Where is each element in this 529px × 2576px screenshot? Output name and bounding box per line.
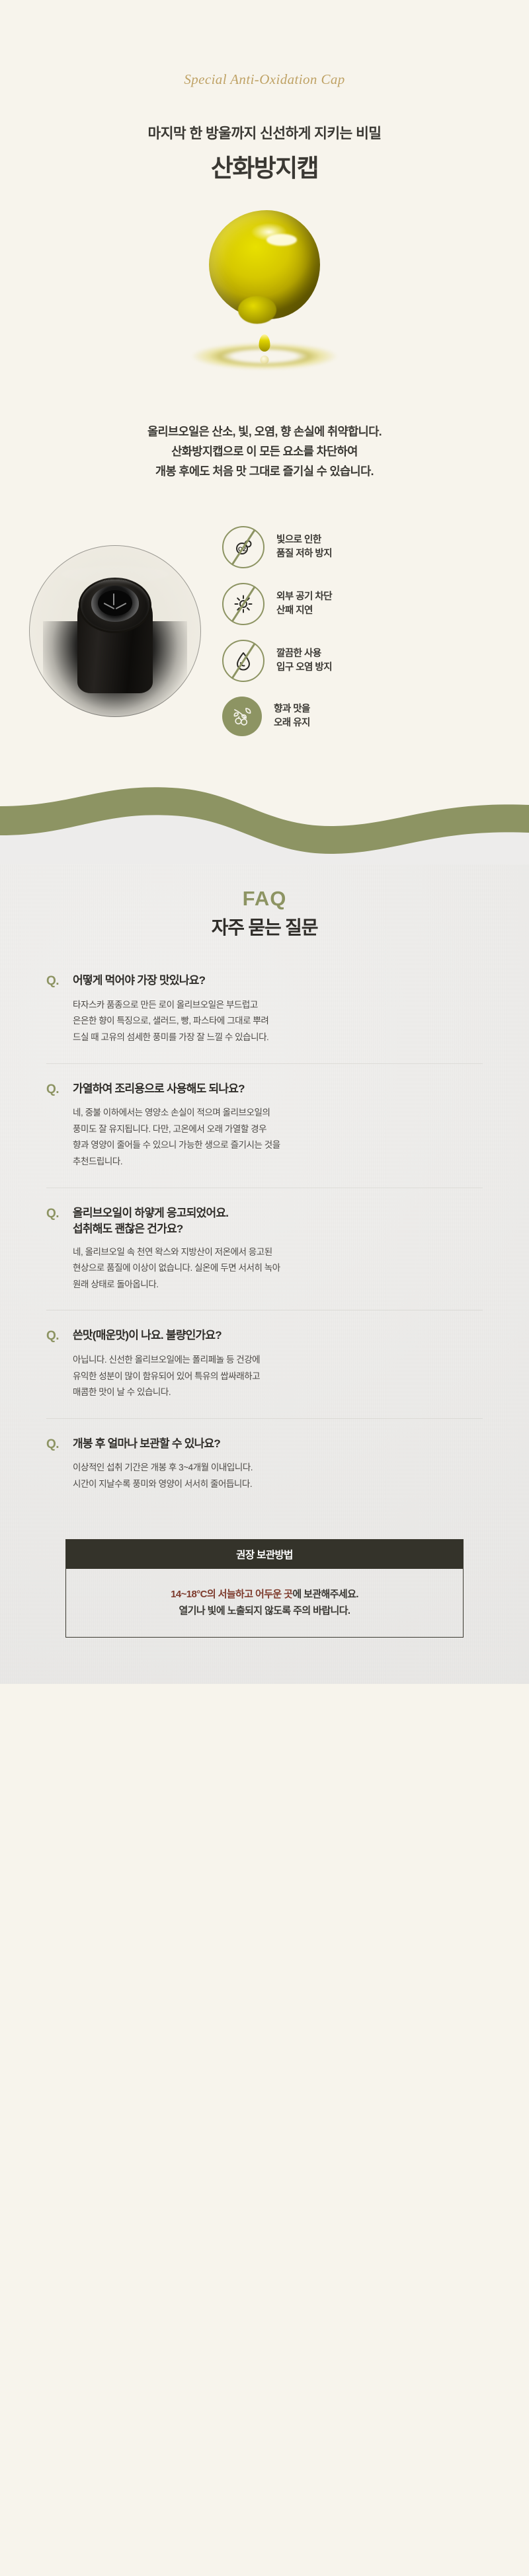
- faq-item[interactable]: Q. 올리브오일이 하얗게 응고되었어요. 섭취해도 괜찮은 건가요? 네, 올…: [46, 1188, 483, 1310]
- product-detail-page: Special Anti-Oxidation Cap 마지막 한 방울까지 신선…: [0, 0, 529, 1684]
- faq-title: 자주 묻는 질문: [0, 913, 529, 940]
- no-sun-icon: [222, 583, 264, 625]
- feature-list: O2 빛으로 인한 품질 저하 방지: [201, 526, 529, 736]
- feature-item: O2 빛으로 인한 품질 저하 방지: [222, 526, 529, 568]
- question-mark-label: Q.: [46, 973, 73, 990]
- faq-question-row: Q. 개봉 후 얼마나 보관할 수 있나요?: [46, 1436, 483, 1453]
- faq-answer: 네, 중불 이하에서는 영양소 손실이 적으며 올리브오일의 풍미도 잘 유지됩…: [73, 1105, 483, 1170]
- feature-label: 깔끔한 사용 입구 오염 방지: [264, 647, 332, 676]
- faq-question: 쓴맛(매운맛)이 나요. 불량인가요?: [73, 1328, 222, 1344]
- faq-question-row: Q. 어떻게 먹어야 가장 맛있나요?: [46, 973, 483, 990]
- faq-question-row: Q. 가열하여 조리용으로 사용해도 되나요?: [46, 1081, 483, 1098]
- faq-item[interactable]: Q. 개봉 후 얼마나 보관할 수 있나요? 이상적인 섭취 기간은 개봉 후 …: [46, 1418, 483, 1510]
- feature-item: 향과 맛을 오래 유지: [222, 697, 529, 736]
- faq-question: 어떻게 먹어야 가장 맛있나요?: [73, 973, 205, 989]
- faq-answer: 아닙니다. 신선한 올리브오일에는 폴리페놀 등 건강에 유익한 성분이 많이 …: [73, 1352, 483, 1401]
- no-oxygen-icon: O2: [222, 526, 264, 568]
- olive-branch-icon: [222, 697, 262, 736]
- oil-drop-icon: [209, 210, 320, 319]
- faq-item[interactable]: Q. 가열하여 조리용으로 사용해도 되나요? 네, 중불 이하에서는 영양소 …: [46, 1063, 483, 1188]
- faq-answer: 이상적인 섭취 기간은 개봉 후 3~4개월 이내입니다. 시간이 지날수록 풍…: [73, 1460, 483, 1492]
- oil-drop-illustration: [0, 198, 529, 416]
- no-drip-icon: [222, 640, 264, 682]
- question-mark-label: Q.: [46, 1436, 73, 1453]
- question-mark-label: Q.: [46, 1328, 73, 1345]
- faq-eyebrow: FAQ: [0, 887, 529, 911]
- question-mark-label: Q.: [46, 1205, 73, 1223]
- faq-item[interactable]: Q. 어떻게 먹어야 가장 맛있나요? 타자스카 품종으로 만든 로이 올리브오…: [46, 966, 483, 1063]
- features-section: O2 빛으로 인한 품질 저하 방지: [0, 481, 529, 736]
- hero-copy-line-1: 올리브오일은 산소, 빛, 오염, 향 손실에 취약합니다.: [147, 425, 382, 438]
- photo-highlight: [60, 566, 170, 583]
- feature-label: 빛으로 인한 품질 저하 방지: [264, 533, 332, 562]
- drop-highlight: [266, 234, 297, 246]
- hero-section: Special Anti-Oxidation Cap 마지막 한 방울까지 신선…: [0, 0, 529, 481]
- faq-question-row: Q. 올리브오일이 하얗게 응고되었어요. 섭취해도 괜찮은 건가요?: [46, 1205, 483, 1237]
- faq-question: 올리브오일이 하얗게 응고되었어요. 섭취해도 괜찮은 건가요?: [73, 1205, 228, 1237]
- oil-droplet-small-icon: [259, 334, 270, 352]
- question-mark-label: Q.: [46, 1081, 73, 1098]
- feature-label: 외부 공기 차단 산패 지연: [264, 590, 332, 619]
- faq-section: FAQ 자주 묻는 질문 Q. 어떻게 먹어야 가장 맛있나요? 타자스카 품종…: [0, 864, 529, 1684]
- faq-question-row: Q. 쓴맛(매운맛)이 나요. 불량인가요?: [46, 1328, 483, 1345]
- faq-question: 개봉 후 얼마나 보관할 수 있나요?: [73, 1436, 220, 1452]
- faq-question: 가열하여 조리용으로 사용해도 되나요?: [73, 1081, 245, 1097]
- hero-copy: 올리브오일은 산소, 빛, 오염, 향 손실에 취약합니다.산화방지캡으로 이 …: [0, 416, 529, 481]
- faq-header: FAQ 자주 묻는 질문: [0, 887, 529, 966]
- hero-title: 산화방지캡: [0, 148, 529, 184]
- storage-body: 14~18°C의 서늘하고 어두운 곳에 보관해주세요. 열기나 빛에 노출되지…: [66, 1569, 463, 1638]
- feature-item: 깔끔한 사용 입구 오염 방지: [222, 640, 529, 682]
- wave-divider: [0, 778, 529, 864]
- faq-item[interactable]: Q. 쓴맛(매운맛)이 나요. 불량인가요? 아닙니다. 신선한 올리브오일에는…: [46, 1310, 483, 1418]
- feature-item: 외부 공기 차단 산패 지연: [222, 583, 529, 625]
- hero-copy-line-3: 개봉 후에도 처음 맛 그대로 즐기실 수 있습니다.: [155, 465, 374, 478]
- oil-droplet-tiny-icon: [261, 356, 269, 364]
- storage-recommendation-box: 권장 보관방법 14~18°C의 서늘하고 어두운 곳에 보관해주세요. 열기나…: [65, 1539, 464, 1638]
- hero-eyebrow: Special Anti-Oxidation Cap: [0, 0, 529, 88]
- faq-answer: 네, 올리브오일 속 천연 왁스와 지방산이 저온에서 응고된 현상으로 품질에…: [73, 1244, 483, 1293]
- faq-answer: 타자스카 품종으로 만든 로이 올리브오일은 부드럽고 은은한 향이 특징으로,…: [73, 997, 483, 1046]
- hero-subtitle: 마지막 한 방울까지 신선하게 지키는 비밀: [0, 122, 529, 143]
- hero-copy-line-2: 산화방지캡으로 이 모든 요소를 차단하여: [171, 445, 358, 458]
- storage-line-2: 열기나 빛에 노출되지 않도록 주의 바랍니다.: [179, 1605, 350, 1616]
- feature-label: 향과 맛을 오래 유지: [262, 702, 310, 732]
- bottle-neck-photo: [29, 545, 201, 717]
- storage-line-1-rest: 에 보관해주세요.: [292, 1589, 358, 1600]
- storage-heading: 권장 보관방법: [66, 1540, 463, 1569]
- storage-temperature-highlight: 14~18°C의 서늘하고 어두운 곳: [171, 1589, 292, 1600]
